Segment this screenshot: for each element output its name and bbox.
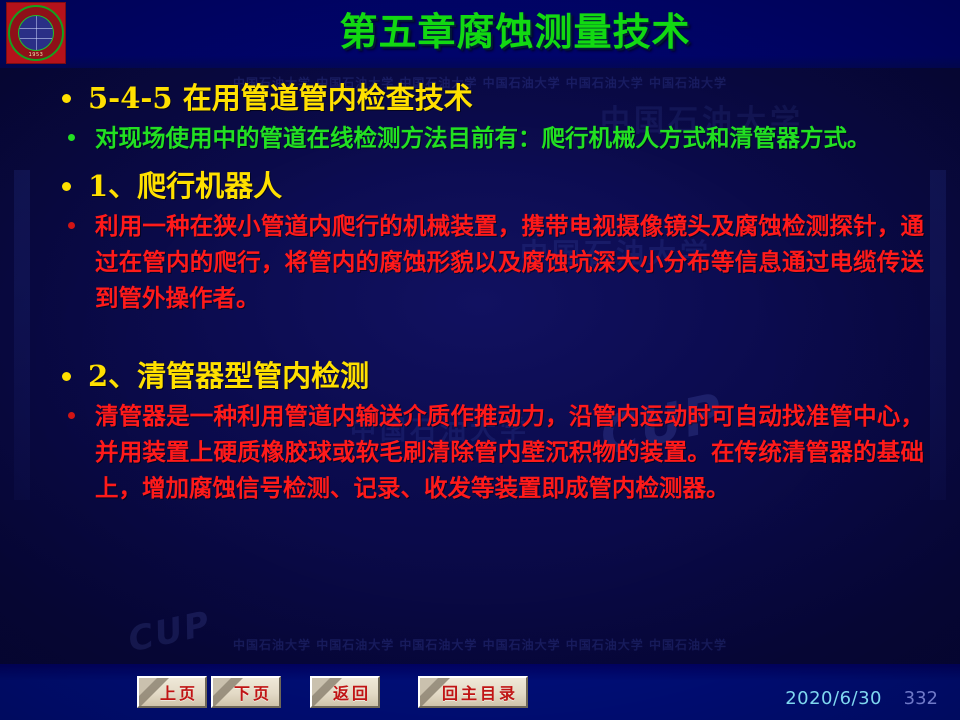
logo-year: 1953	[10, 52, 62, 58]
logo-globe-icon	[18, 15, 54, 51]
section-body-1: 对现场使用中的管道在线检测方法目前有：爬行机械人方式和清管器方式。	[0, 120, 960, 156]
footer-date: 2020/6/30	[785, 688, 882, 709]
logo-outer-ring: 1953	[8, 5, 64, 61]
section-body-3: 清管器是一种利用管道内输送介质作推动力，沿管内运动时可自动找准管中心，并用装置上…	[0, 398, 960, 506]
section-heading-1: 5-4-5 在用管道管内检查技术	[0, 78, 960, 118]
prev-page-button[interactable]: 上页	[137, 676, 207, 708]
bullet-icon	[62, 182, 71, 191]
bullet-icon	[68, 134, 75, 141]
return-button[interactable]: 返回	[310, 676, 380, 708]
next-page-button[interactable]: 下页	[211, 676, 281, 708]
section-heading-3: 2、清管器型管内检测	[0, 356, 960, 396]
spacer	[0, 156, 960, 166]
main-menu-label: 回主目录	[428, 680, 518, 704]
university-logo: 1953	[6, 2, 66, 64]
logo-meridian	[36, 16, 37, 50]
bullet-icon	[62, 372, 71, 381]
section-body-3-text: 清管器是一种利用管道内输送介质作推动力，沿管内运动时可自动找准管中心，并用装置上…	[95, 402, 924, 502]
bullet-icon	[68, 222, 75, 229]
next-page-label: 下页	[220, 680, 272, 704]
page-title: 第五章腐蚀测量技术	[70, 4, 960, 60]
section-heading-3-text: 2、清管器型管内检测	[88, 359, 369, 393]
bullet-icon	[62, 94, 71, 103]
footer-page-number: 332	[904, 688, 938, 709]
main-menu-button[interactable]: 回主目录	[418, 676, 528, 708]
content-block-2: 1、爬行机器人 利用一种在狭小管道内爬行的机械装置，携带电视摄像镜头及腐蚀检测探…	[0, 166, 960, 316]
section-body-1-text: 对现场使用中的管道在线检测方法目前有：爬行机械人方式和清管器方式。	[95, 124, 871, 152]
section-heading-2: 1、爬行机器人	[0, 166, 960, 206]
return-label: 返回	[319, 680, 371, 704]
section-body-2-text: 利用一种在狭小管道内爬行的机械装置，携带电视摄像镜头及腐蚀检测探针，通过在管内的…	[95, 212, 924, 312]
section-body-2: 利用一种在狭小管道内爬行的机械装置，携带电视摄像镜头及腐蚀检测探针，通过在管内的…	[0, 208, 960, 316]
content-block-3: 2、清管器型管内检测 清管器是一种利用管道内输送介质作推动力，沿管内运动时可自动…	[0, 356, 960, 506]
bullet-icon	[68, 412, 75, 419]
presentation-slide: 中国石油大学 中国石油大学 中国石油大学 中国石油大学 中国石油大学 中国石油大…	[0, 0, 960, 720]
section-heading-2-text: 1、爬行机器人	[88, 169, 282, 203]
spacer	[0, 316, 960, 356]
section-heading-1-text: 5-4-5 在用管道管内检查技术	[88, 81, 473, 115]
content-block-1: 5-4-5 在用管道管内检查技术 对现场使用中的管道在线检测方法目前有：爬行机械…	[0, 78, 960, 156]
prev-page-label: 上页	[146, 680, 198, 704]
slide-content: 5-4-5 在用管道管内检查技术 对现场使用中的管道在线检测方法目前有：爬行机械…	[0, 78, 960, 506]
